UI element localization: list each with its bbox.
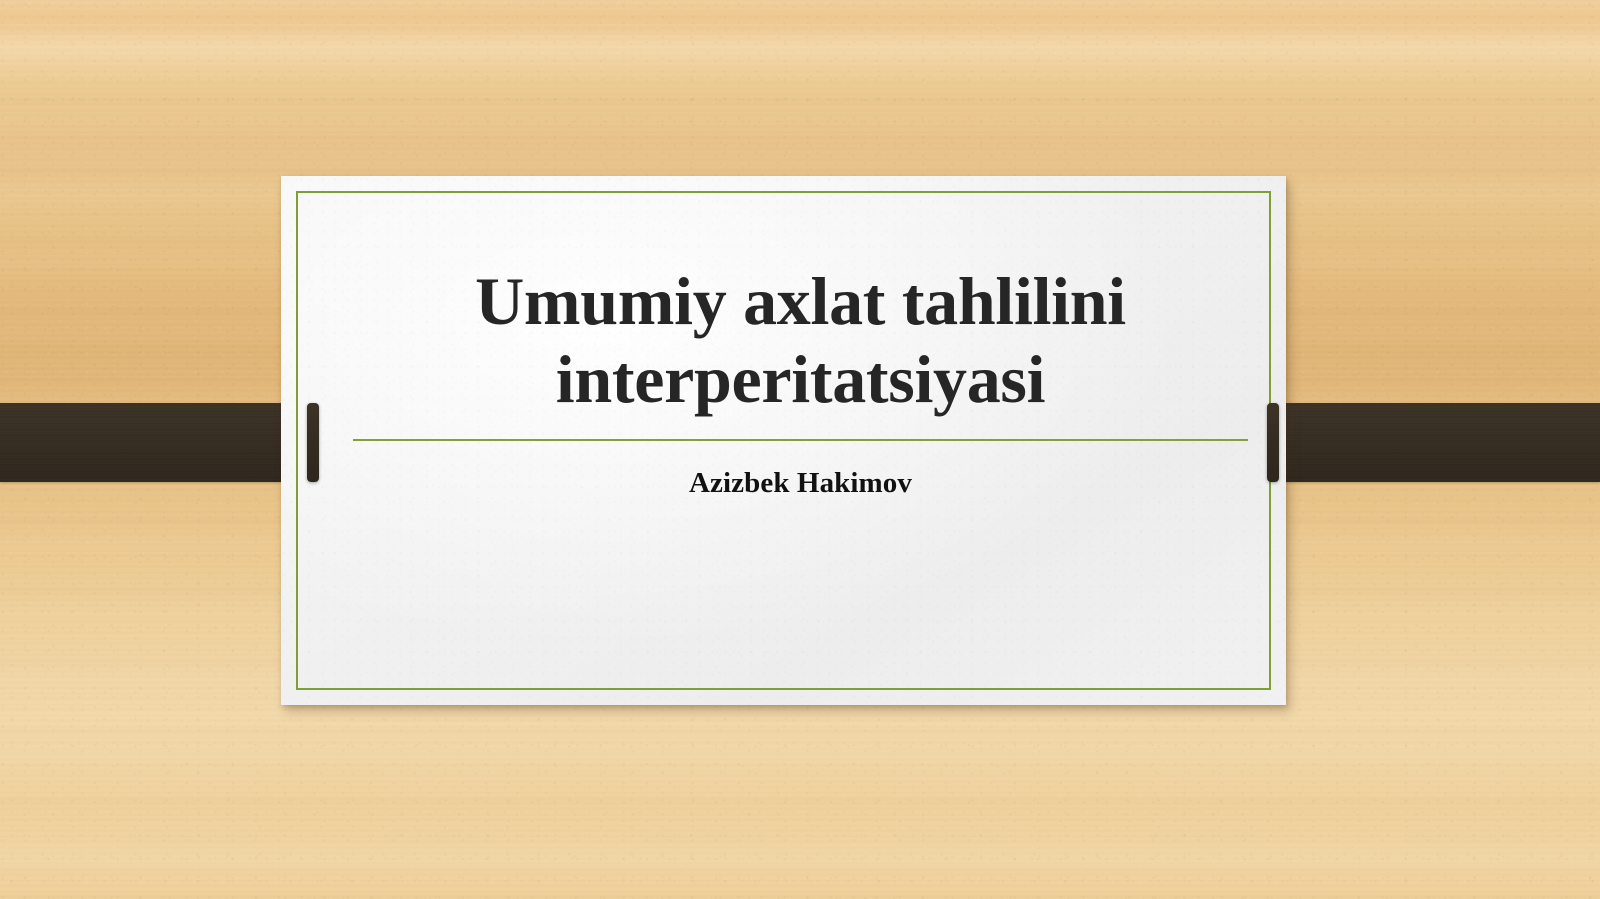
slide-subtitle-author: Azizbek Hakimov — [353, 465, 1248, 501]
slide-text-block: Umumiy axlat tahlilini interperitatsiyas… — [353, 262, 1248, 501]
dark-band-left-cap — [307, 403, 319, 482]
slide-title: Umumiy axlat tahlilini interperitatsiyas… — [353, 262, 1248, 418]
dark-band-right-cap — [1267, 403, 1279, 482]
title-divider-line — [353, 439, 1248, 441]
presentation-slide: Umumiy axlat tahlilini interperitatsiyas… — [0, 0, 1600, 899]
